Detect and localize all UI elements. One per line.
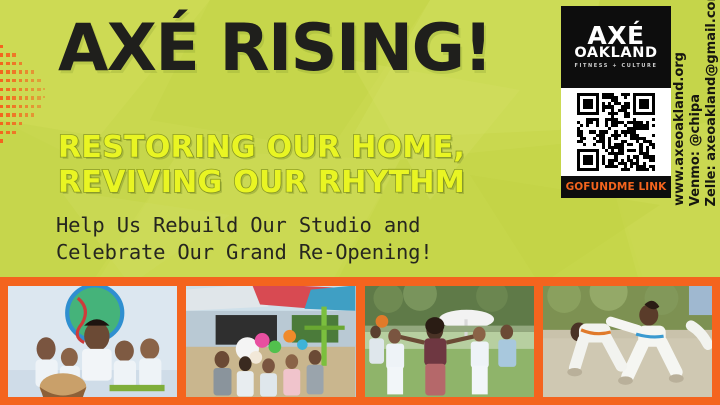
body-copy-line-1: Help Us Rebuild Our Studio and (56, 212, 432, 239)
qr-code-grid (577, 93, 655, 171)
photo-capoeira-pair (543, 286, 712, 397)
contact-website[interactable]: www.axeoakland.org (672, 52, 687, 206)
brand-qr-card: AXÉ OAKLAND FITNESS + CULTURE GOFUNDME L… (561, 6, 671, 206)
photo-children-playground-balloons (186, 286, 355, 397)
subheadline-line-1: RESTORING OUR HOME, (58, 130, 465, 165)
gofundme-link-button[interactable]: GOFUNDME LINK (561, 176, 671, 198)
logo-tagline: FITNESS + CULTURE (575, 63, 658, 69)
decorative-dot-pattern (0, 36, 62, 166)
contact-zelle[interactable]: Zelle: axeoakland@gmail.com (704, 0, 719, 206)
photo-group-children-drum (8, 286, 177, 397)
body-copy: Help Us Rebuild Our Studio and Celebrate… (56, 212, 432, 266)
photo-outdoor-dance-circle (365, 286, 534, 397)
subheadline: RESTORING OUR HOME, REVIVING OUR RHYTHM (58, 130, 465, 201)
page-title: AXÉ RISING! (58, 18, 492, 80)
body-copy-line-2: Celebrate Our Grand Re-Opening! (56, 239, 432, 266)
flyer-canvas: AXÉ RISING! RESTORING OUR HOME, REVIVING… (0, 0, 720, 405)
qr-code[interactable] (561, 88, 671, 176)
contact-info: www.axeoakland.org Venmo: @chipa Zelle: … (672, 8, 720, 206)
subheadline-line-2: REVIVING OUR RHYTHM (58, 165, 465, 200)
photo-strip (0, 277, 720, 405)
brand-logo: AXÉ OAKLAND FITNESS + CULTURE (561, 6, 671, 88)
contact-venmo[interactable]: Venmo: @chipa (688, 94, 703, 206)
logo-city: OAKLAND (574, 46, 657, 61)
